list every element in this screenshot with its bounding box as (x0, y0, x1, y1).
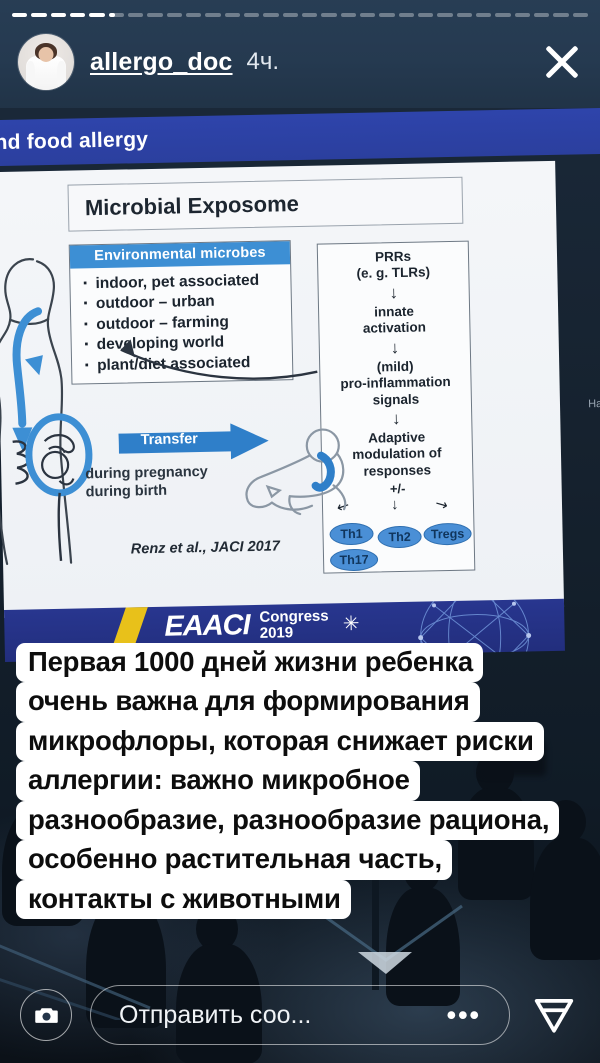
story-caption: Первая 1000 дней жизни ребенка очень важ… (16, 643, 584, 919)
progress-segment-fill (31, 13, 46, 17)
progress-segment[interactable] (457, 13, 472, 17)
progress-segment[interactable] (12, 13, 27, 17)
story-progress-bar[interactable] (12, 12, 588, 17)
branch-arrow-right-icon: ↘ (431, 493, 451, 515)
slide-body: Microbial Exposome (0, 161, 564, 618)
progress-segment-fill (89, 13, 104, 17)
progress-segment[interactable] (437, 13, 452, 17)
caption-row: микрофлоры, которая снижает риски (16, 722, 584, 761)
eaaci-logo-text: EAACI (164, 609, 250, 644)
progress-segment-fill (109, 13, 115, 17)
progress-segment[interactable] (399, 13, 414, 17)
message-placeholder: Отправить соо... (119, 1001, 437, 1030)
close-icon[interactable] (538, 38, 586, 86)
progress-segment[interactable] (147, 13, 162, 17)
transfer-subtext: during pregnancy during birth (85, 464, 208, 502)
crawling-baby-icon (236, 427, 368, 526)
down-arrow-icon: ↓ (320, 337, 470, 358)
progress-segment[interactable] (167, 13, 182, 17)
cell-oval-th1: Th1 (329, 523, 373, 546)
username-link[interactable]: allergo_doc (90, 48, 233, 77)
slide-banner-text: nd food allergy (0, 128, 148, 155)
curved-arrow-icon (86, 305, 328, 390)
progress-segment[interactable] (418, 13, 433, 17)
caption-row: очень важна для формирования (16, 682, 584, 721)
progress-segment[interactable] (89, 13, 104, 17)
progress-segment[interactable] (283, 13, 298, 17)
transfer-label: Transfer (140, 431, 198, 448)
caption-line: контакты с животными (16, 880, 351, 919)
cell-oval-th2: Th2 (377, 526, 421, 549)
camera-icon[interactable] (20, 989, 72, 1041)
progress-segment[interactable] (553, 13, 568, 17)
caption-row: разнообразие, разнообразие рациона, (16, 801, 584, 840)
progress-segment[interactable] (360, 13, 375, 17)
story-user-row: allergo_doc 4ч. (18, 30, 586, 94)
eaaci-congress-block: Congress 2019 (259, 609, 329, 641)
progress-segment[interactable] (70, 13, 85, 17)
progress-segment[interactable] (573, 13, 588, 17)
transfer-subtext-line2: during birth (86, 482, 209, 502)
progress-segment[interactable] (341, 13, 356, 17)
progress-segment[interactable] (495, 13, 510, 17)
down-arrow-icon: ↓ (319, 283, 469, 304)
caption-line: Первая 1000 дней жизни ребенка (16, 643, 483, 682)
send-glyph-icon (532, 993, 576, 1037)
caption-row: Первая 1000 дней жизни ребенка (16, 643, 584, 682)
progress-segment-fill (51, 13, 66, 17)
pathway-step: pro-inflammation (320, 374, 470, 393)
eaaci-year-label: 2019 (260, 624, 329, 641)
caption-line: очень важна для формирования (16, 682, 480, 721)
caption-row: особенно растительная часть, (16, 840, 584, 879)
cell-oval-tregs: Tregs (423, 523, 471, 546)
eaaci-congress-label: Congress (259, 609, 328, 626)
eaaci-logo-group: EAACI Congress 2019 ✳ (164, 607, 360, 644)
cell-oval-th17: Th17 (330, 549, 378, 572)
branch-arrow-mid-icon: ↓ (391, 496, 399, 513)
avatar-arm-right (57, 61, 66, 89)
progress-segment[interactable] (515, 13, 530, 17)
avatar-face (39, 47, 54, 62)
progress-segment[interactable] (321, 13, 336, 17)
progress-segment[interactable] (244, 13, 259, 17)
transfer-subtext-line1: during pregnancy (85, 464, 208, 484)
progress-segment[interactable] (263, 13, 278, 17)
story-bottom-bar: Отправить соо... ••• (0, 967, 600, 1063)
progress-segment[interactable] (51, 13, 66, 17)
progress-segment[interactable] (534, 13, 549, 17)
progress-segment[interactable] (205, 13, 220, 17)
progress-segment[interactable] (476, 13, 491, 17)
send-icon[interactable] (528, 989, 580, 1041)
progress-segment[interactable] (225, 13, 240, 17)
progress-segment-fill (70, 13, 85, 17)
caption-row: контакты с животными (16, 880, 584, 919)
caption-line: разнообразие, разнообразие рациона, (16, 801, 559, 840)
message-input[interactable]: Отправить соо... ••• (90, 985, 510, 1045)
slide-title: Microbial Exposome (67, 177, 463, 232)
timestamp-label: 4ч. (247, 48, 280, 76)
pathway-step: (e. g. TLRs) (318, 264, 468, 283)
progress-segment[interactable] (109, 13, 124, 17)
tcell-ovals: Th1 Th2 Tregs Th17 (323, 521, 474, 582)
presentation-screen: nd food allergy Microbial Exposome (0, 101, 600, 626)
progress-segment[interactable] (302, 13, 317, 17)
pathway-step: activation (319, 319, 469, 338)
caption-line: аллергии: важно микробное (16, 761, 420, 800)
progress-segment[interactable] (128, 13, 143, 17)
prr-pathway-box: PRRs (e. g. TLRs) ↓ innate activation ↓ … (317, 241, 476, 574)
caption-line: особенно растительная часть, (16, 840, 452, 879)
story-viewer: nd food allergy Microbial Exposome (0, 0, 600, 1063)
progress-segment-fill (12, 13, 27, 17)
progress-segment[interactable] (379, 13, 394, 17)
slide-citation: Renz et al., JACI 2017 (131, 538, 280, 557)
dandelion-star-icon: ✳ (343, 611, 360, 636)
more-options-icon[interactable]: ••• (437, 1000, 481, 1031)
progress-segment[interactable] (186, 13, 201, 17)
caption-row: аллергии: важно микробное (16, 761, 584, 800)
caption-line: микрофлоры, которая снижает риски (16, 722, 544, 761)
side-note-text: Hara (588, 398, 600, 410)
camera-glyph-icon (33, 1002, 60, 1029)
progress-segment[interactable] (31, 13, 46, 17)
avatar[interactable] (18, 34, 74, 90)
avatar-arm-left (26, 61, 35, 89)
pathway-step: signals (321, 390, 471, 409)
slide-banner: nd food allergy (0, 107, 600, 166)
